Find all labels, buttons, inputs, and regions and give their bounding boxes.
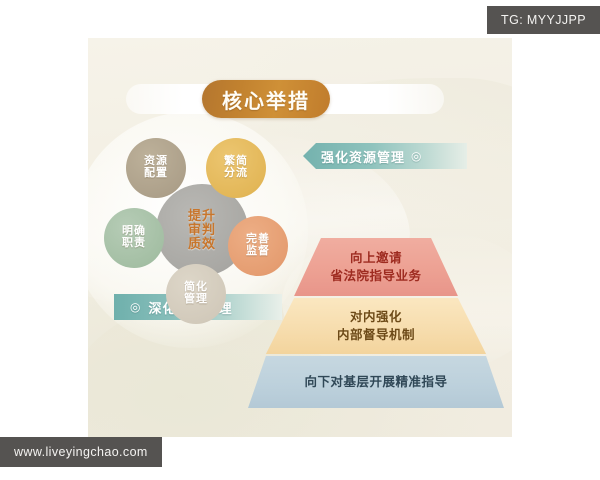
website-watermark: www.liveyingchao.com [0, 437, 162, 467]
pyramid-tier-bottom: 向下对基层开展精准指导 [248, 356, 504, 408]
circle-center-line-1: 提升 [188, 209, 216, 223]
pyramid-tier-middle: 对内强化 内部督导机制 [248, 298, 504, 354]
circle-resource-allocation-line-2: 配置 [144, 168, 168, 180]
circle-clear-responsibility: 明确 职责 [104, 208, 164, 268]
circle-clear-responsibility-line-2: 职责 [122, 238, 146, 250]
circle-case-triage-line-2: 分流 [224, 168, 248, 180]
circle-improve-supervision: 完善 监督 [228, 216, 288, 276]
banner-strengthen-resource-management: 强化资源管理 ◎ [303, 143, 467, 169]
circle-case-triage: 繁简 分流 [206, 138, 266, 198]
pyramid-tier-middle-line-1: 对内强化 [350, 308, 402, 326]
telegram-watermark-text: TG: MYYJJPP [501, 13, 586, 27]
banner-strengthen-resource-management-label: 强化资源管理 [321, 147, 405, 166]
circle-simplify-management-line-2: 管理 [184, 294, 208, 306]
pyramid-diagram: 向上邀请 省法院指导业务 对内强化 内部督导机制 向下对基层开展精准指导 [248, 238, 504, 416]
telegram-watermark: TG: MYYJJPP [487, 6, 600, 34]
circle-simplify-management: 简化 管理 [166, 264, 226, 324]
circle-center-line-3: 质效 [188, 237, 216, 251]
pyramid-tier-middle-line-2: 内部督导机制 [337, 326, 415, 344]
pyramid-tier-top-line-2: 省法院指导业务 [330, 267, 421, 285]
page-title: 核心举措 [202, 80, 330, 118]
ring-icon: ◎ [411, 150, 422, 162]
circle-center-line-2: 审判 [188, 223, 216, 237]
page-title-text: 核心举措 [222, 85, 310, 114]
ring-icon: ◎ [130, 301, 141, 313]
pyramid-tier-top-line-1: 向上邀请 [350, 249, 402, 267]
circle-improve-supervision-line-2: 监督 [246, 246, 270, 258]
pyramid-tier-bottom-line-1: 向下对基层开展精准指导 [304, 373, 447, 391]
website-watermark-text: www.liveyingchao.com [14, 445, 148, 459]
circle-resource-allocation: 资源 配置 [126, 138, 186, 198]
infographic-poster: 核心举措 提升 审判 质效 资源 配置 繁简 分流 明确 职责 完善 监督 简化… [88, 38, 512, 437]
